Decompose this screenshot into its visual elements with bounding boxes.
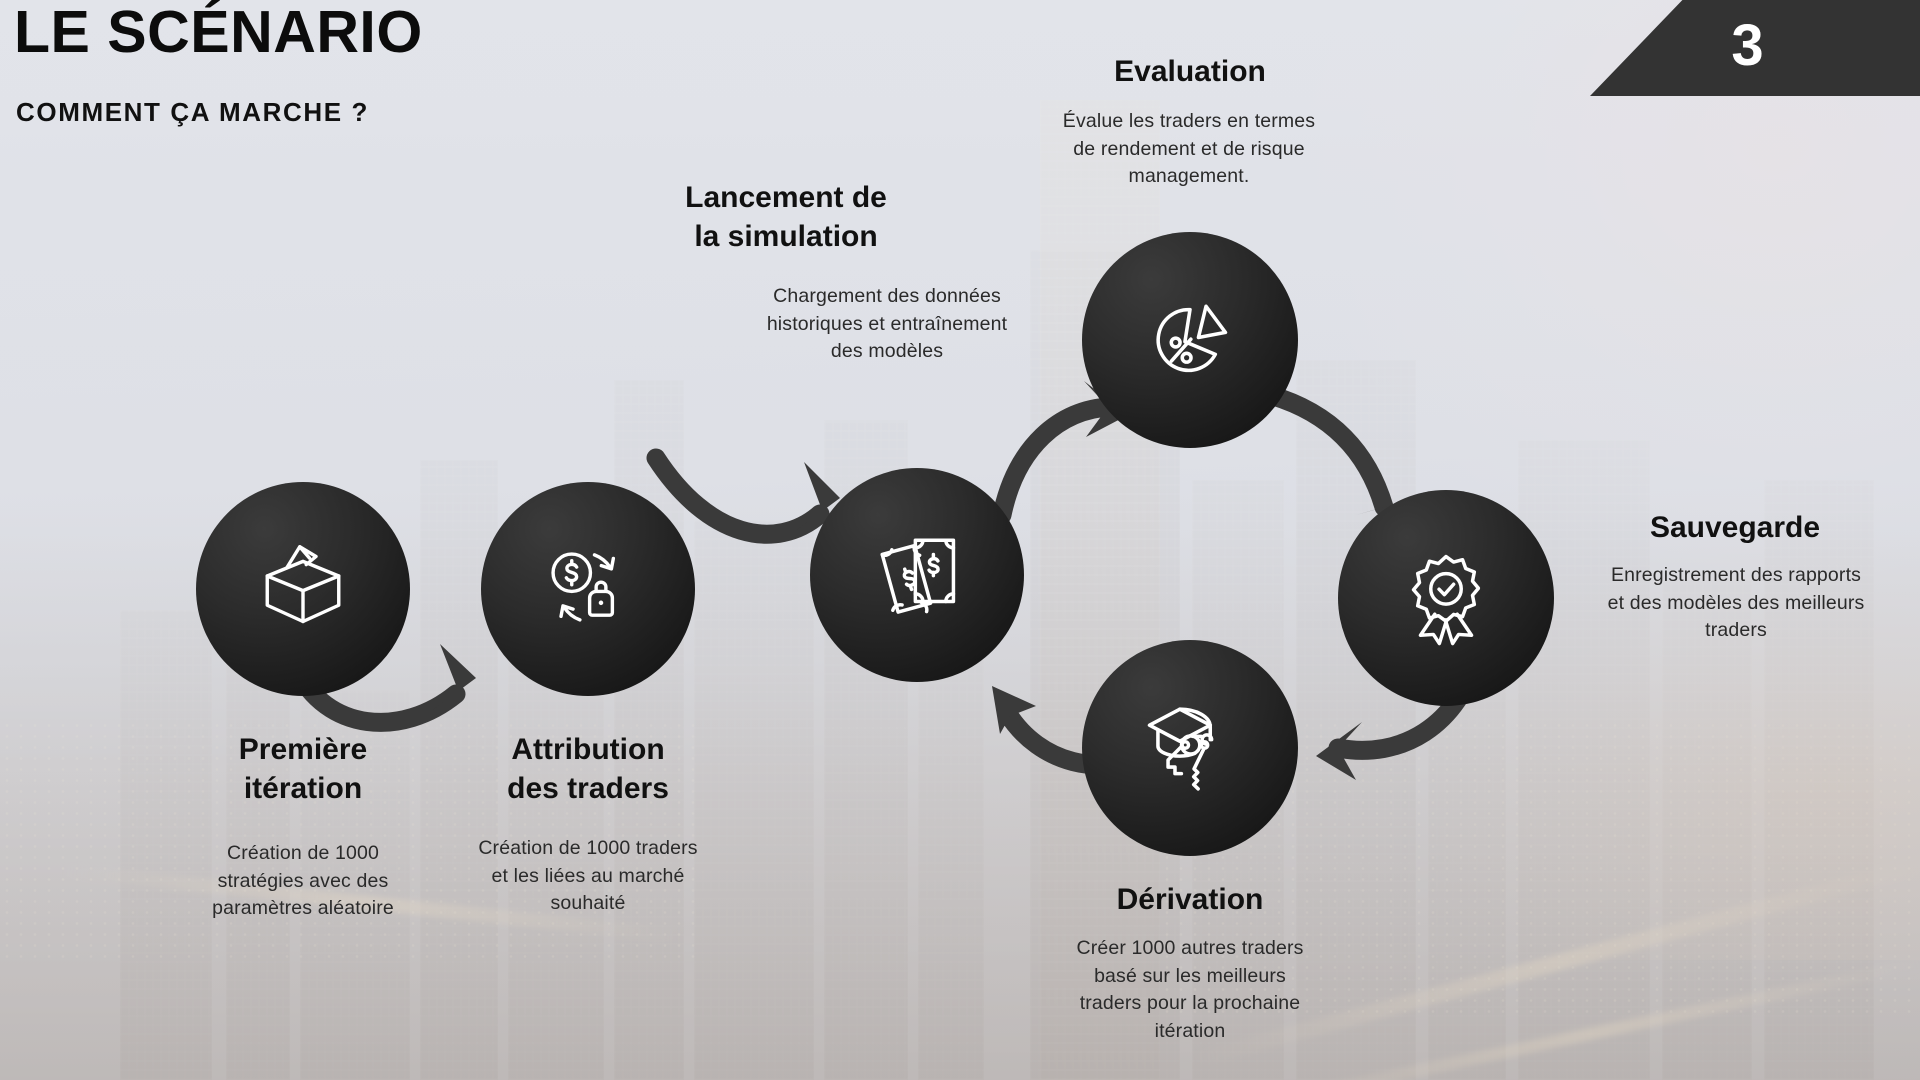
step-circle-derivation[interactable] [1082, 640, 1298, 856]
step-description-sauvegarde: Enregistrement des rapports et des modèl… [1600, 562, 1872, 645]
step-title-line: Première [173, 730, 433, 769]
step-title-premiere-iteration: Première itération [173, 730, 433, 808]
step-title-line: des traders [458, 769, 718, 808]
step-description-premiere-iteration: Création de 1000 stratégies avec des par… [183, 840, 423, 923]
step-description-evaluation: Évalue les traders en termes de rendemen… [1058, 108, 1320, 191]
step-circle-attribution-des-traders[interactable] [481, 482, 695, 696]
step-circle-evaluation[interactable] [1082, 232, 1298, 448]
graduation-keys-icon [1136, 694, 1244, 802]
step-title-sauvegarde: Sauvegarde [1570, 508, 1900, 547]
pie-chart-percent-icon [1136, 286, 1244, 394]
step-description-attribution-des-traders: Création de 1000 traders et les liées au… [468, 835, 708, 918]
page-subtitle: COMMENT ÇA MARCHE ? [16, 97, 369, 128]
money-exchange-icon [536, 537, 640, 641]
step-circle-sauvegarde[interactable] [1338, 490, 1554, 706]
step-description-derivation: Créer 1000 autres traders basé sur les m… [1068, 935, 1312, 1046]
step-title-line: Attribution [458, 730, 718, 769]
banknotes-icon [864, 522, 970, 628]
award-ribbon-check-icon [1393, 545, 1499, 651]
step-title-attribution-des-traders: Attribution des traders [458, 730, 718, 808]
step-title-lancement-de-la-simulation: Lancement de la simulation [636, 178, 936, 256]
step-title-derivation: Dérivation [1040, 880, 1340, 919]
step-circle-premiere-iteration[interactable] [196, 482, 410, 696]
step-title-evaluation: Evaluation [1040, 52, 1340, 91]
page-title: LE SCÉNARIO [14, 2, 423, 64]
step-circle-lancement-de-la-simulation[interactable] [810, 468, 1024, 682]
step-title-line: Lancement de [636, 178, 936, 217]
step-title-line: itération [173, 769, 433, 808]
open-box-icon [251, 537, 355, 641]
slide-number: 3 [1731, 17, 1762, 75]
step-description-lancement-de-la-simulation: Chargement des données historiques et en… [762, 283, 1012, 366]
step-title-line: la simulation [636, 217, 936, 256]
